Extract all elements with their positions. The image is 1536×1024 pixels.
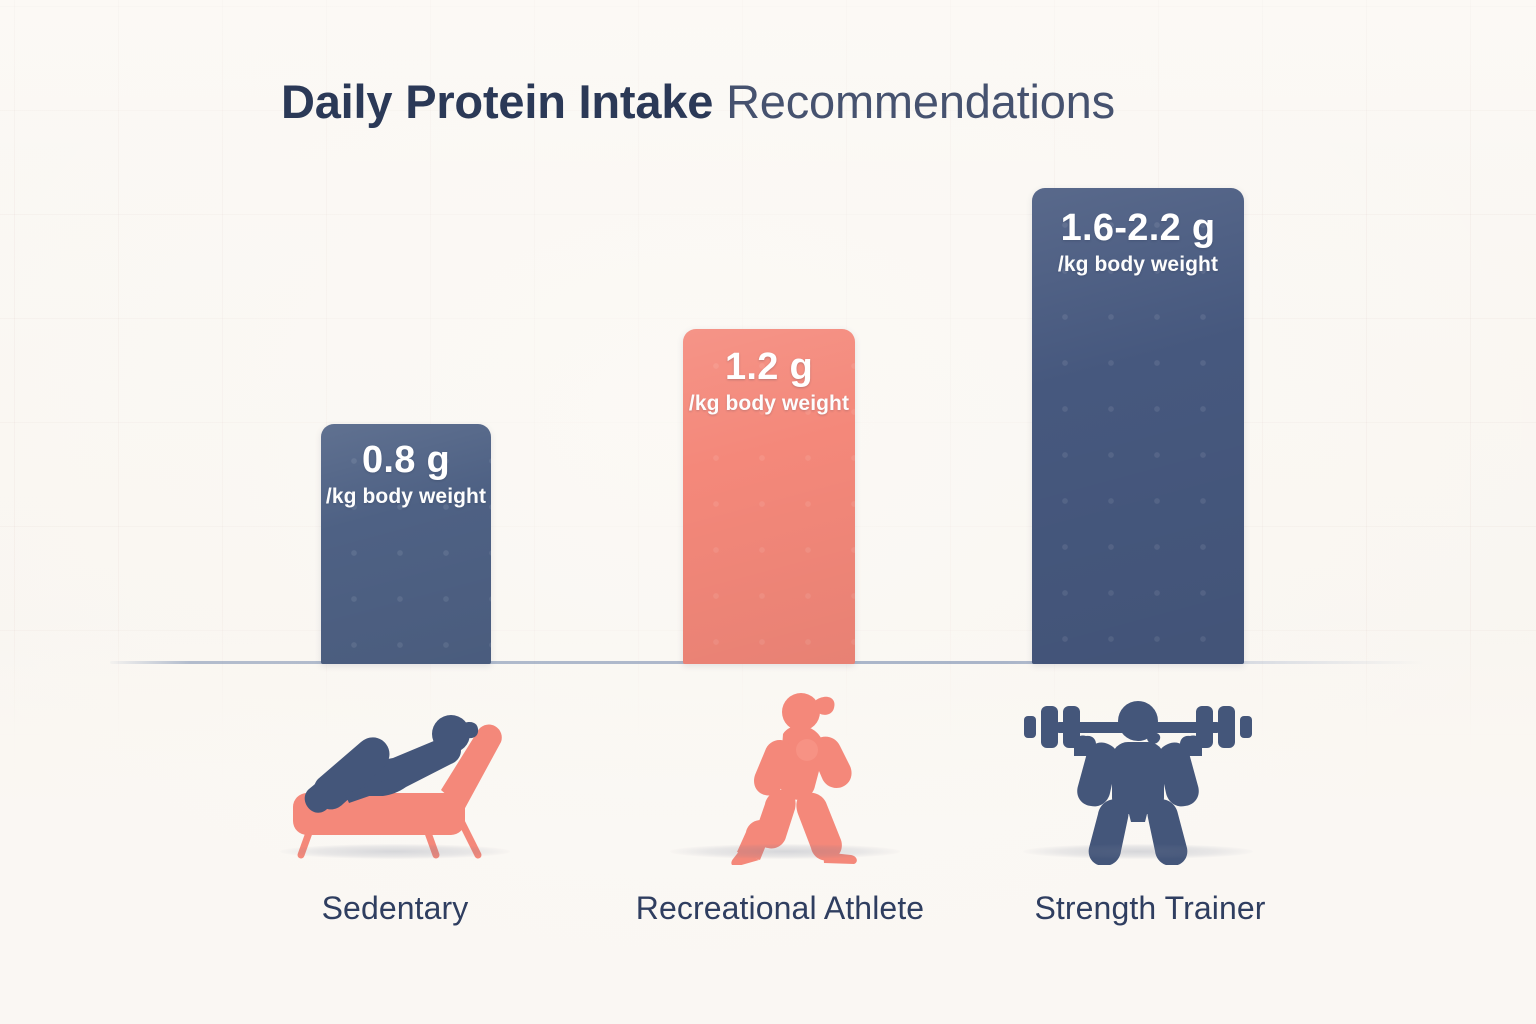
bar-texture <box>683 329 855 664</box>
bar-recreational-athlete[interactable] <box>683 329 855 664</box>
bar-sheen <box>1032 188 1244 664</box>
bar-strength-trainer[interactable] <box>1032 188 1244 664</box>
icon-slot-strength-trainer <box>1008 690 1268 865</box>
bar-chart: 0.8 g /kg body weight 1.2 g /kg body wei… <box>0 0 1536 1024</box>
person-running-icon <box>655 690 915 865</box>
person-reclining-on-couch-icon <box>265 690 525 865</box>
category-label-strength-trainer: Strength Trainer <box>1000 888 1300 928</box>
category-label-recreational-athlete: Recreational Athlete <box>600 888 960 928</box>
icon-shadow <box>1023 844 1253 859</box>
bar-sheen <box>683 329 855 664</box>
icon-slot-sedentary <box>265 690 525 865</box>
bar-sedentary[interactable] <box>321 424 491 664</box>
bar-texture <box>1032 188 1244 664</box>
bar-texture <box>321 424 491 664</box>
icon-shadow <box>280 844 510 859</box>
icon-slot-recreational-athlete <box>655 690 915 865</box>
icon-shadow <box>670 844 900 859</box>
protein-intake-infographic: Daily Protein Intake Recommendations 0.8… <box>0 0 1536 1024</box>
category-label-sedentary: Sedentary <box>275 888 515 928</box>
bar-sheen <box>321 424 491 664</box>
person-lifting-barbell-icon <box>1008 690 1268 865</box>
